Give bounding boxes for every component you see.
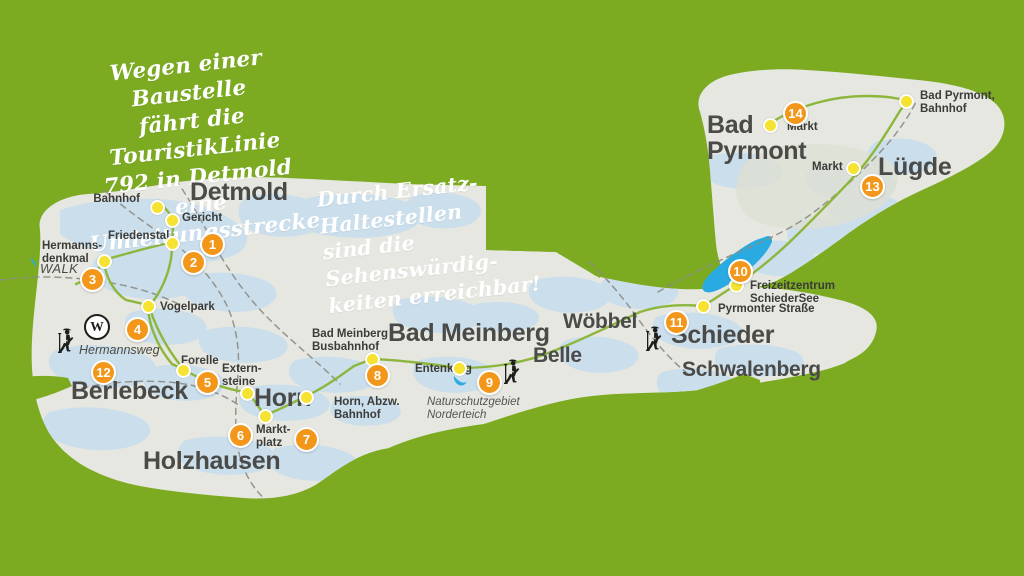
stop-label-marktplatz-horn: Markt- platz xyxy=(256,424,291,450)
route-badge-6[interactable]: 6 xyxy=(228,423,253,448)
stop-dot-forelle[interactable] xyxy=(176,363,191,378)
city-label-schwalenberg: Schwalenberg xyxy=(682,358,821,382)
hiker-icon xyxy=(503,358,525,388)
city-label-detmold: Detmold xyxy=(190,178,288,207)
route-badge-8[interactable]: 8 xyxy=(365,363,390,388)
map-geometry-layer xyxy=(0,0,1024,576)
w-badge-icon: W xyxy=(84,314,110,340)
label-walk: WALK xyxy=(40,262,78,277)
stop-label-externsteine: Extern- steine xyxy=(222,363,262,389)
stop-label-vogelpark: Vogelpark xyxy=(160,301,215,314)
label-naturschutzgebiet: Naturschutzgebiet Norderteich xyxy=(427,396,520,422)
city-label-woebbel: Wöbbel xyxy=(563,310,637,334)
bird-icon xyxy=(29,257,39,268)
route-badge-11[interactable]: 11 xyxy=(664,310,689,335)
stop-dot-pyrmonter-strasse[interactable] xyxy=(696,299,711,314)
stop-dot-markt-bad-pyrmont[interactable] xyxy=(763,118,778,133)
hiker-icon xyxy=(57,327,79,357)
map-canvas: Wegen einer Baustelle fährt die Touristi… xyxy=(0,0,1024,576)
route-badge-9[interactable]: 9 xyxy=(477,370,502,395)
route-badge-7[interactable]: 7 xyxy=(294,427,319,452)
route-badge-10[interactable]: 10 xyxy=(728,259,753,284)
city-label-luegde: Lügde xyxy=(878,153,952,182)
stop-dot-bahnhof-detmold[interactable] xyxy=(150,200,165,215)
stop-label-friedenstal: Friedenstal xyxy=(108,230,169,243)
stop-dot-hermannsdenkmal[interactable] xyxy=(97,254,112,269)
stop-dot-horn-abzw-bahnhof[interactable] xyxy=(299,390,314,405)
stop-label-bad-meinberg-busbahnhof: Bad Meinberg Busbahnhof xyxy=(312,328,388,354)
city-label-berlebeck: Berlebeck xyxy=(71,377,188,406)
w-badge-letter: W xyxy=(90,319,104,335)
stop-dot-externsteine[interactable] xyxy=(240,386,255,401)
route-badge-1[interactable]: 1 xyxy=(200,232,225,257)
stop-dot-friedenstal[interactable] xyxy=(165,236,180,251)
route-badge-3[interactable]: 3 xyxy=(80,267,105,292)
stop-dot-marktplatz-horn[interactable] xyxy=(258,409,273,424)
stop-label-markt-luegde: Markt xyxy=(812,161,843,174)
stop-label-horn-abzw-bahnhof: Horn, Abzw. Bahnhof xyxy=(334,396,400,422)
hiker-icon xyxy=(645,325,667,355)
city-label-pyrmont: Pyrmont xyxy=(707,137,806,166)
route-badge-5[interactable]: 5 xyxy=(195,370,220,395)
route-badge-4[interactable]: 4 xyxy=(125,317,150,342)
stop-dot-gericht[interactable] xyxy=(165,213,180,228)
route-badge-13[interactable]: 13 xyxy=(860,174,885,199)
route-badge-2[interactable]: 2 xyxy=(181,250,206,275)
stop-dot-markt-luegde[interactable] xyxy=(846,161,861,176)
bird-icon xyxy=(452,374,468,388)
stop-dot-bad-pyrmont-bahnhof[interactable] xyxy=(899,94,914,109)
city-label-bad: Bad xyxy=(707,111,753,140)
stop-label-gericht: Gericht xyxy=(182,212,222,225)
stop-label-bahnhof-detmold: Bahnhof xyxy=(93,193,140,206)
stop-label-freizeitzentrum: Freizeitzentrum SchiederSee xyxy=(750,280,835,306)
stop-dot-vogelpark[interactable] xyxy=(141,299,156,314)
route-badge-14[interactable]: 14 xyxy=(783,101,808,126)
label-hermannsweg: Hermannsweg xyxy=(79,343,160,357)
route-badge-12[interactable]: 12 xyxy=(91,360,116,385)
city-label-belle: Belle xyxy=(533,344,582,368)
city-label-holzhausen: Holzhausen xyxy=(143,447,280,476)
stop-label-bad-pyrmont-bahnhof: Bad Pyrmont, Bahnhof xyxy=(920,90,995,116)
city-label-bad-meinberg: Bad Meinberg xyxy=(388,319,550,348)
